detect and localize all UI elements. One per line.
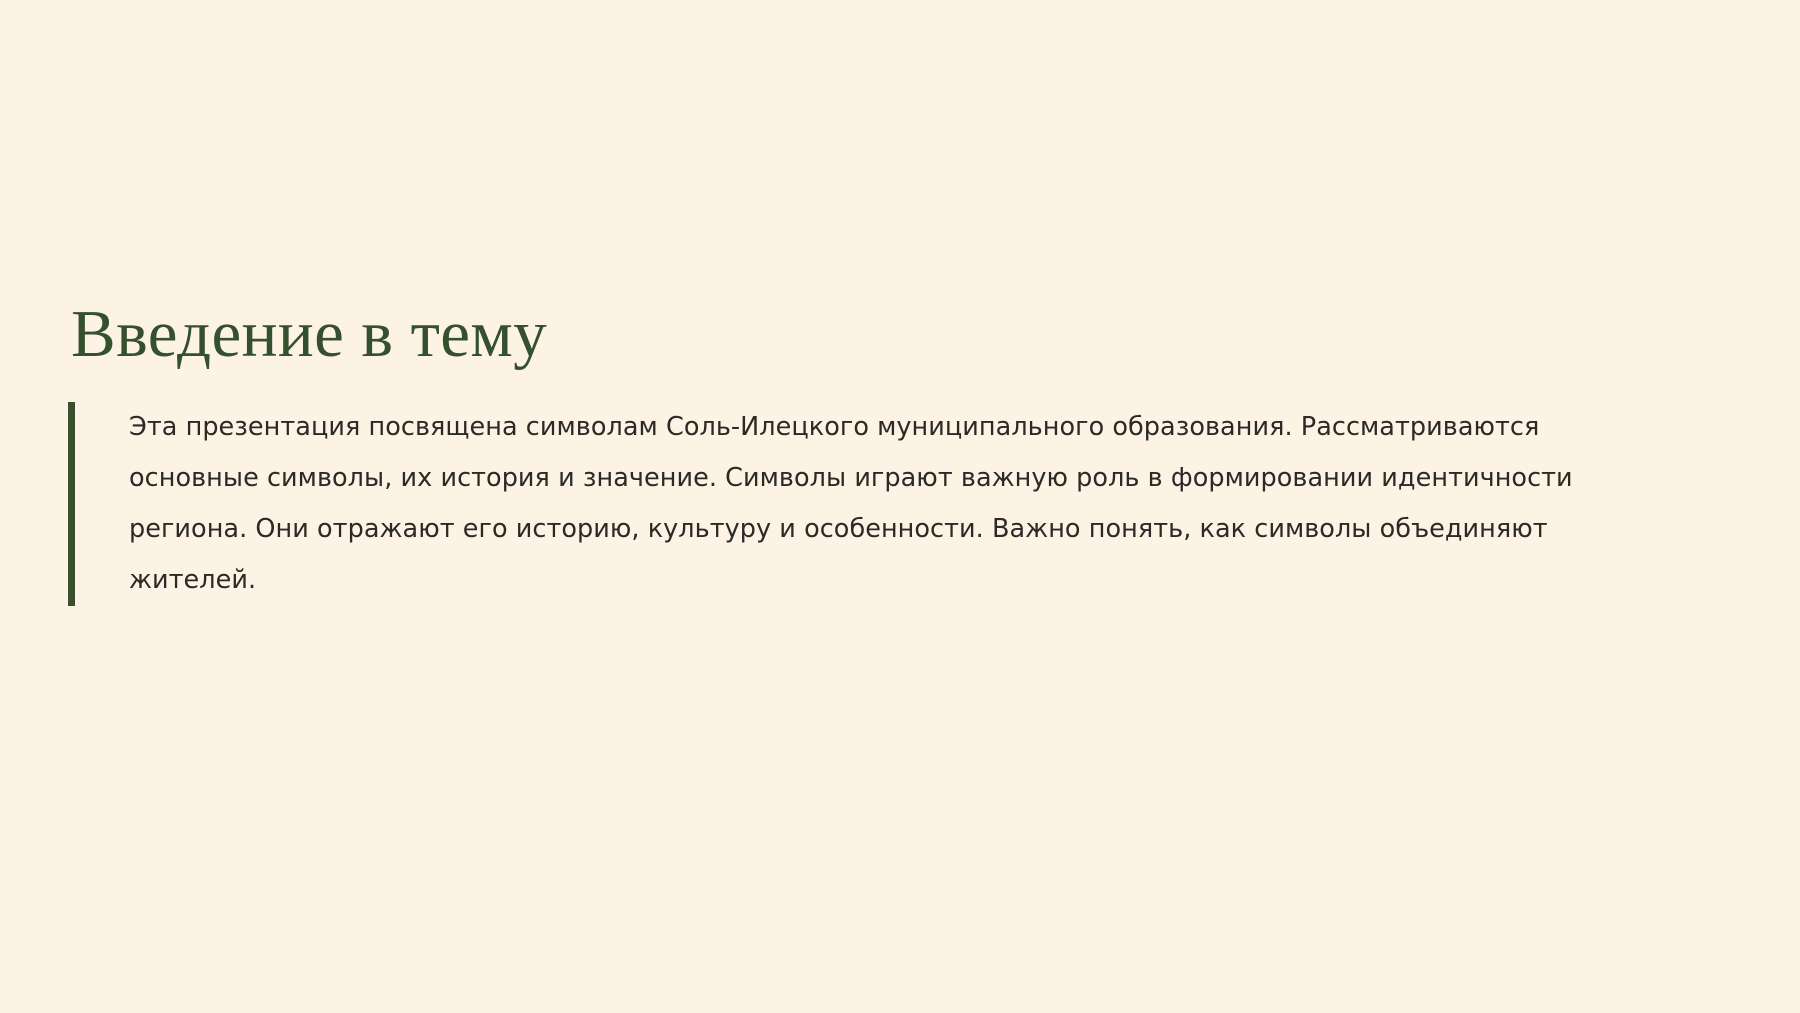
accent-bar xyxy=(68,402,75,606)
slide-content: Введение в тему Эта презентация посвящен… xyxy=(68,292,1688,606)
page-title: Введение в тему xyxy=(68,292,1688,376)
body-paragraph: Эта презентация посвящена символам Соль-… xyxy=(75,402,1648,606)
presentation-slide: Введение в тему Эта презентация посвящен… xyxy=(0,0,1800,1013)
body-block: Эта презентация посвящена символам Соль-… xyxy=(68,402,1648,606)
